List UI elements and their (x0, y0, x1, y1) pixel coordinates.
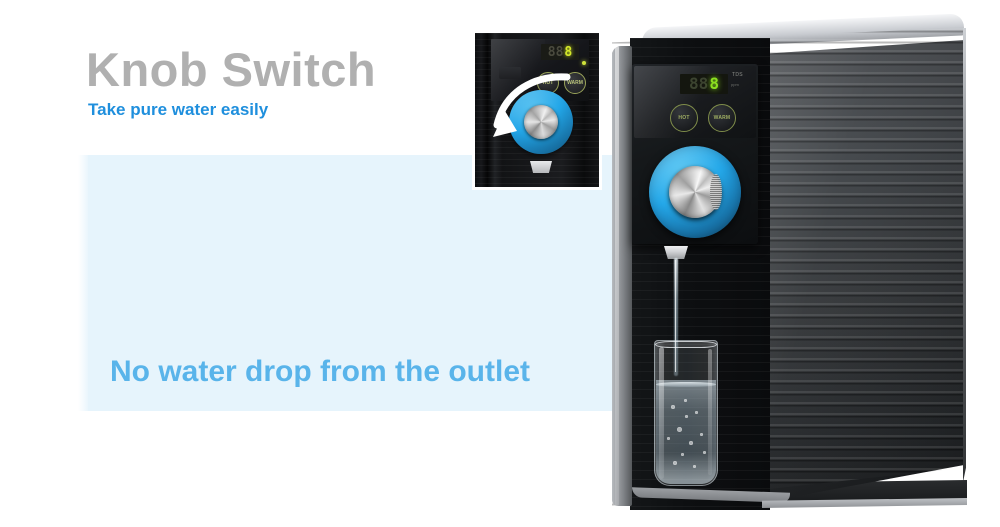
warm-button[interactable]: WARM (708, 104, 736, 132)
glass-rim (655, 341, 717, 348)
lcd-active-digit: 8 (709, 76, 719, 92)
inset-knob-ring[interactable] (509, 90, 573, 154)
inset-dispense-knob[interactable] (524, 105, 558, 139)
bubble (693, 465, 696, 468)
tds-lcd-display: 88 8 (680, 74, 728, 94)
lcd-dim-digits: 88 (689, 76, 708, 92)
knob-closeup-photo: 88 8 HOT WARM (472, 30, 602, 190)
tds-unit-label: ppm (731, 82, 739, 87)
bubble (689, 441, 693, 445)
inset-warm-button[interactable]: WARM (564, 72, 586, 94)
bubble (684, 399, 687, 402)
bubble (681, 453, 684, 456)
inset-panel-label-block (499, 67, 521, 79)
knob-ring[interactable] (649, 146, 741, 238)
bubble (667, 437, 670, 440)
inset-outlet-nozzle (530, 161, 552, 173)
product-banner: Knob Switch Take pure water easily No wa… (0, 0, 1000, 527)
feature-tagline: No water drop from the outlet (110, 355, 530, 389)
knob-knurl-texture (710, 174, 722, 210)
inset-power-led (582, 61, 586, 65)
page-subtitle: Take pure water easily (88, 100, 268, 120)
unit-side-edge-highlight (963, 28, 966, 506)
tds-label: TDS (732, 72, 743, 78)
bubble (703, 451, 706, 454)
glass-water-surface (656, 382, 716, 387)
unit-left-silver-strip (612, 46, 632, 506)
bubble (673, 461, 677, 465)
glass-left-highlight (659, 347, 664, 479)
bubble (695, 411, 698, 414)
hot-button[interactable]: HOT (670, 104, 698, 132)
inset-lcd-dim-digits: 88 (548, 46, 564, 59)
glass-water-fill (656, 380, 716, 484)
bubble (677, 427, 682, 432)
control-module: 88 8 TDS ppm HOT WARM (632, 64, 758, 244)
dispense-knob[interactable] (669, 166, 721, 218)
inset-lcd-active-digit: 8 (564, 46, 572, 59)
bubble (685, 415, 688, 418)
unit-left-strip-highlight (615, 46, 619, 506)
water-purifier-dispenser: 88 8 TDS ppm HOT WARM (612, 28, 964, 506)
inset-lcd-display: 88 8 (541, 44, 579, 60)
water-glass (654, 340, 718, 486)
control-panel-face: 88 8 TDS ppm HOT WARM (634, 66, 756, 138)
bubble (671, 405, 675, 409)
glass-right-highlight (708, 349, 712, 475)
bubble (700, 433, 703, 436)
page-title: Knob Switch (86, 42, 376, 97)
